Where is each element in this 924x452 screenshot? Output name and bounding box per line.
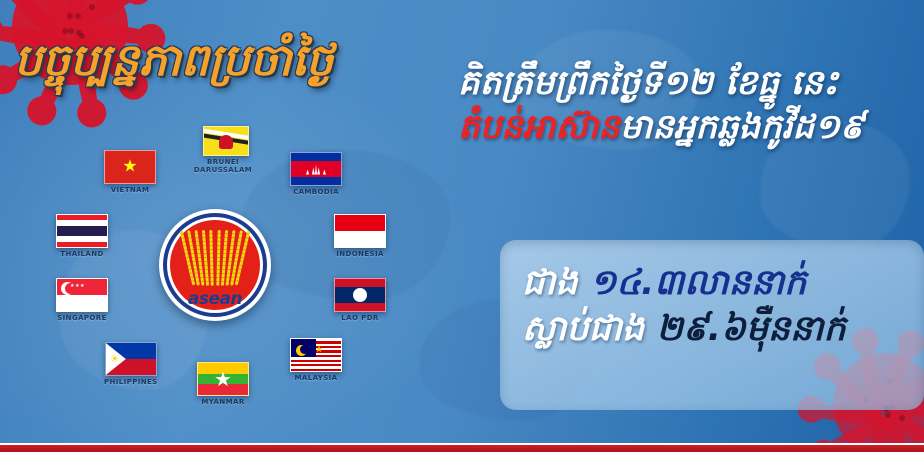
flag-label-indonesia: INDONESIA (334, 250, 386, 258)
flag-item-brunei: BRUNEI DARUSSALAM (197, 126, 254, 174)
flag-item-malaysia: ★ MALAYSIA (290, 338, 342, 382)
flag-item-cambodia: CAMBODIA (290, 152, 342, 196)
title-block: បច្ចុប្បន្នភាពប្រចាំថ្ងៃ (14, 38, 454, 84)
virus-dot (68, 28, 74, 34)
flag-item-myanmar: ★ MYANMAR (197, 362, 249, 406)
stat-label-deaths: ស្លាប់ជាង (522, 309, 644, 349)
page-title: បច្ចុប្បន្នភាពប្រចាំថ្ងៃ (14, 38, 454, 84)
flag-label-philippines: PHILIPPINES (104, 378, 158, 386)
sun-glyph: ☀ (110, 354, 120, 365)
stat-value-cases: ១៤.៣លាននាក់ (590, 263, 807, 303)
stat-label-cases: ជាង (522, 263, 578, 303)
asean-emblem: asean (155, 205, 275, 325)
flag-malaysia-icon: ★ (290, 338, 342, 372)
crescent-icon (296, 345, 307, 356)
flag-item-thailand: THAILAND (56, 214, 108, 258)
stat-value-deaths: ២៩.៦ម៉ឺននាក់ (656, 309, 845, 349)
flag-item-laos: LAO PDR (334, 278, 386, 322)
flag-label-singapore: SINGAPORE (56, 314, 108, 322)
flag-stripe (57, 215, 107, 220)
headline-block: គិតត្រឹមព្រឹកថ្ងៃទី១២ ខែធ្នូ នេះ តំបន់អា… (458, 62, 924, 149)
flag-label-brunei: BRUNEI DARUSSALAM (192, 158, 254, 174)
flag-myanmar-icon: ★ (197, 362, 249, 396)
stars-glyph: ★★★ (70, 283, 85, 289)
flag-item-vietnam: ★ VIETNAM (104, 150, 156, 194)
rice-stalk (210, 230, 214, 286)
flag-stripe (291, 360, 341, 362)
flag-thailand-icon (56, 214, 108, 248)
bottom-accent-bar (0, 443, 924, 452)
flag-cambodia-icon (290, 152, 342, 186)
flag-label-myanmar: MYANMAR (197, 398, 249, 406)
asean-wordmark: asean (188, 291, 242, 308)
flag-stripe (291, 364, 341, 366)
flag-indonesia-icon (334, 214, 386, 248)
flag-item-singapore: ★★★ SINGAPORE (56, 278, 108, 322)
flag-label-thailand: THAILAND (56, 250, 108, 258)
star-glyph: ★ (315, 346, 323, 355)
flag-label-malaysia: MALAYSIA (290, 374, 342, 382)
flag-label-laos: LAO PDR (334, 314, 386, 322)
flag-stripe (291, 369, 341, 371)
flag-stripe (57, 226, 107, 237)
flag-laos-icon (334, 278, 386, 312)
brunei-crest-icon (219, 135, 233, 149)
stat-row-cases: ជាង ១៤.៣លាននាក់ (522, 260, 910, 306)
flag-item-indonesia: INDONESIA (334, 214, 386, 258)
poster-canvas: បច្ចុប្បន្នភាពប្រចាំថ្ងៃ គិតត្រឹមព្រឹកថ្… (0, 0, 924, 452)
flag-brunei-icon (203, 126, 249, 156)
headline-region-highlight: តំបន់អាស៊ាន (458, 107, 620, 147)
flag-band (335, 215, 385, 231)
flag-label-vietnam: VIETNAM (104, 186, 156, 194)
stat-row-deaths: ស្លាប់ជាង ២៩.៦ម៉ឺននាក់ (522, 306, 910, 352)
flag-stripe (57, 242, 107, 247)
flag-philippines-icon: ☀ (105, 342, 157, 376)
headline-line-1: គិតត្រឹមព្រឹកថ្ងៃទី១២ ខែធ្នូ នេះ (458, 62, 924, 106)
stats-panel: ជាង ១៤.៣លាននាក់ ស្លាប់ជាង ២៩.៦ម៉ឺននាក់ (500, 240, 924, 410)
headline-line-2: តំបន់អាស៊ានមានអ្នកឆ្លងកូវីដ១៩ (458, 106, 924, 150)
star-glyph: ★ (214, 369, 232, 389)
asean-flags-wheel: ★ VIETNAM BRUNEI DARUSSALAM CAMBODIA (42, 128, 434, 428)
flag-singapore-icon: ★★★ (56, 278, 108, 312)
white-disc-icon (353, 288, 367, 302)
flag-label-cambodia: CAMBODIA (290, 188, 342, 196)
flag-vietnam-icon: ★ (104, 150, 156, 184)
flag-item-philippines: ☀ PHILIPPINES (104, 342, 158, 386)
rice-stalk (216, 230, 220, 286)
star-glyph: ★ (122, 159, 137, 176)
headline-line-2-rest: មានអ្នកឆ្លងកូវីដ១៩ (620, 107, 864, 147)
rice-stalks-icon (185, 230, 245, 286)
